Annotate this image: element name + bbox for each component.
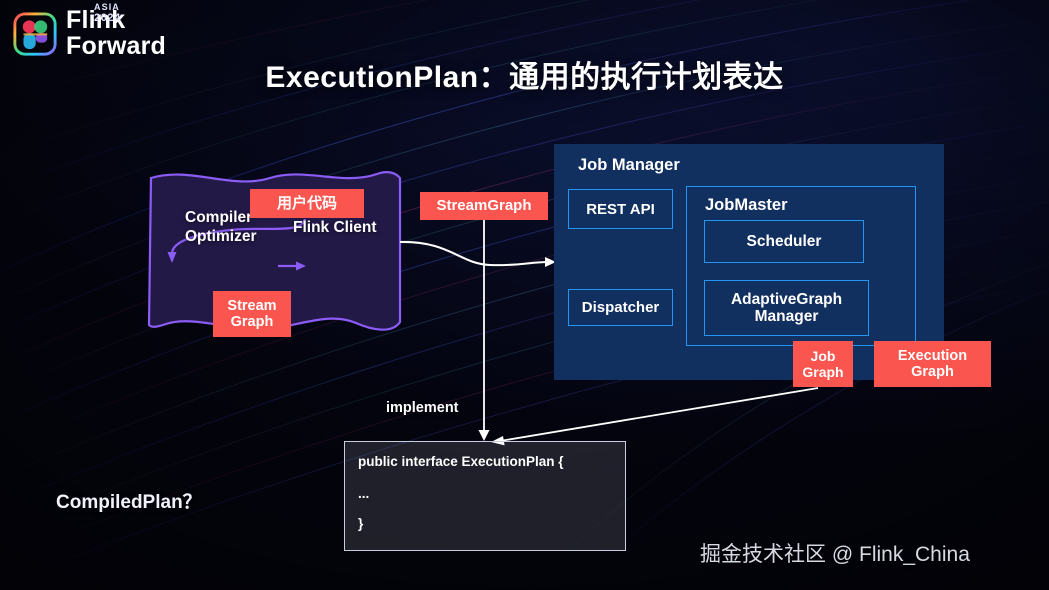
- scheduler-box: Scheduler: [704, 220, 864, 263]
- stream-graph-badge-line1: Stream: [227, 298, 276, 314]
- implement-label: implement: [386, 400, 459, 416]
- watermark-text: 掘金技术社区 @ Flink_China: [700, 538, 970, 568]
- jobmaster-title: JobMaster: [705, 197, 788, 214]
- execution-plan-code-box: public interface ExecutionPlan { ... }: [344, 441, 626, 551]
- dispatcher-box: Dispatcher: [568, 289, 673, 326]
- flink-client-label: Flink Client: [293, 218, 377, 237]
- logo-event-meta: ASIA 2024: [94, 2, 121, 24]
- flink-forward-logo-icon: [12, 11, 58, 57]
- code-line-1: public interface ExecutionPlan {: [358, 454, 564, 469]
- compiler-optimizer-line1: Compiler: [185, 209, 252, 226]
- execution-graph-line1: Execution: [898, 348, 967, 364]
- adaptive-graph-manager-box: AdaptiveGraph Manager: [704, 280, 869, 336]
- compiled-plan-question: CompiledPlan？: [56, 487, 202, 514]
- page-title: ExecutionPlan：通用的执行计划表达: [0, 52, 1049, 96]
- code-line-3: }: [358, 516, 363, 531]
- job-graph-line2: Graph: [802, 364, 843, 380]
- slide-canvas: Flink Forward ASIA 2024 ExecutionPlan：通用…: [0, 0, 1049, 590]
- agm-line1: AdaptiveGraph: [731, 291, 842, 308]
- job-graph-badge: Job Graph: [793, 341, 853, 387]
- stream-graph-badge-line2: Graph: [231, 314, 274, 330]
- agm-line2: Manager: [755, 308, 819, 325]
- logo-region: ASIA: [94, 2, 120, 12]
- streamgraph-badge: StreamGraph: [420, 192, 548, 220]
- logo-year: 2024: [94, 12, 121, 24]
- rest-api-box: REST API: [568, 189, 673, 229]
- compiler-optimizer-line2: Optimizer: [185, 228, 256, 245]
- compiler-optimizer-label: Compiler Optimizer: [185, 208, 256, 246]
- execution-graph-line2: Graph: [911, 364, 954, 380]
- job-manager-title: Job Manager: [578, 156, 680, 175]
- execution-graph-badge: Execution Graph: [874, 341, 991, 387]
- job-graph-line1: Job: [811, 348, 836, 364]
- stream-graph-badge-client: Stream Graph: [213, 291, 291, 337]
- code-line-2: ...: [358, 486, 369, 501]
- user-code-badge: 用户代码: [250, 189, 364, 218]
